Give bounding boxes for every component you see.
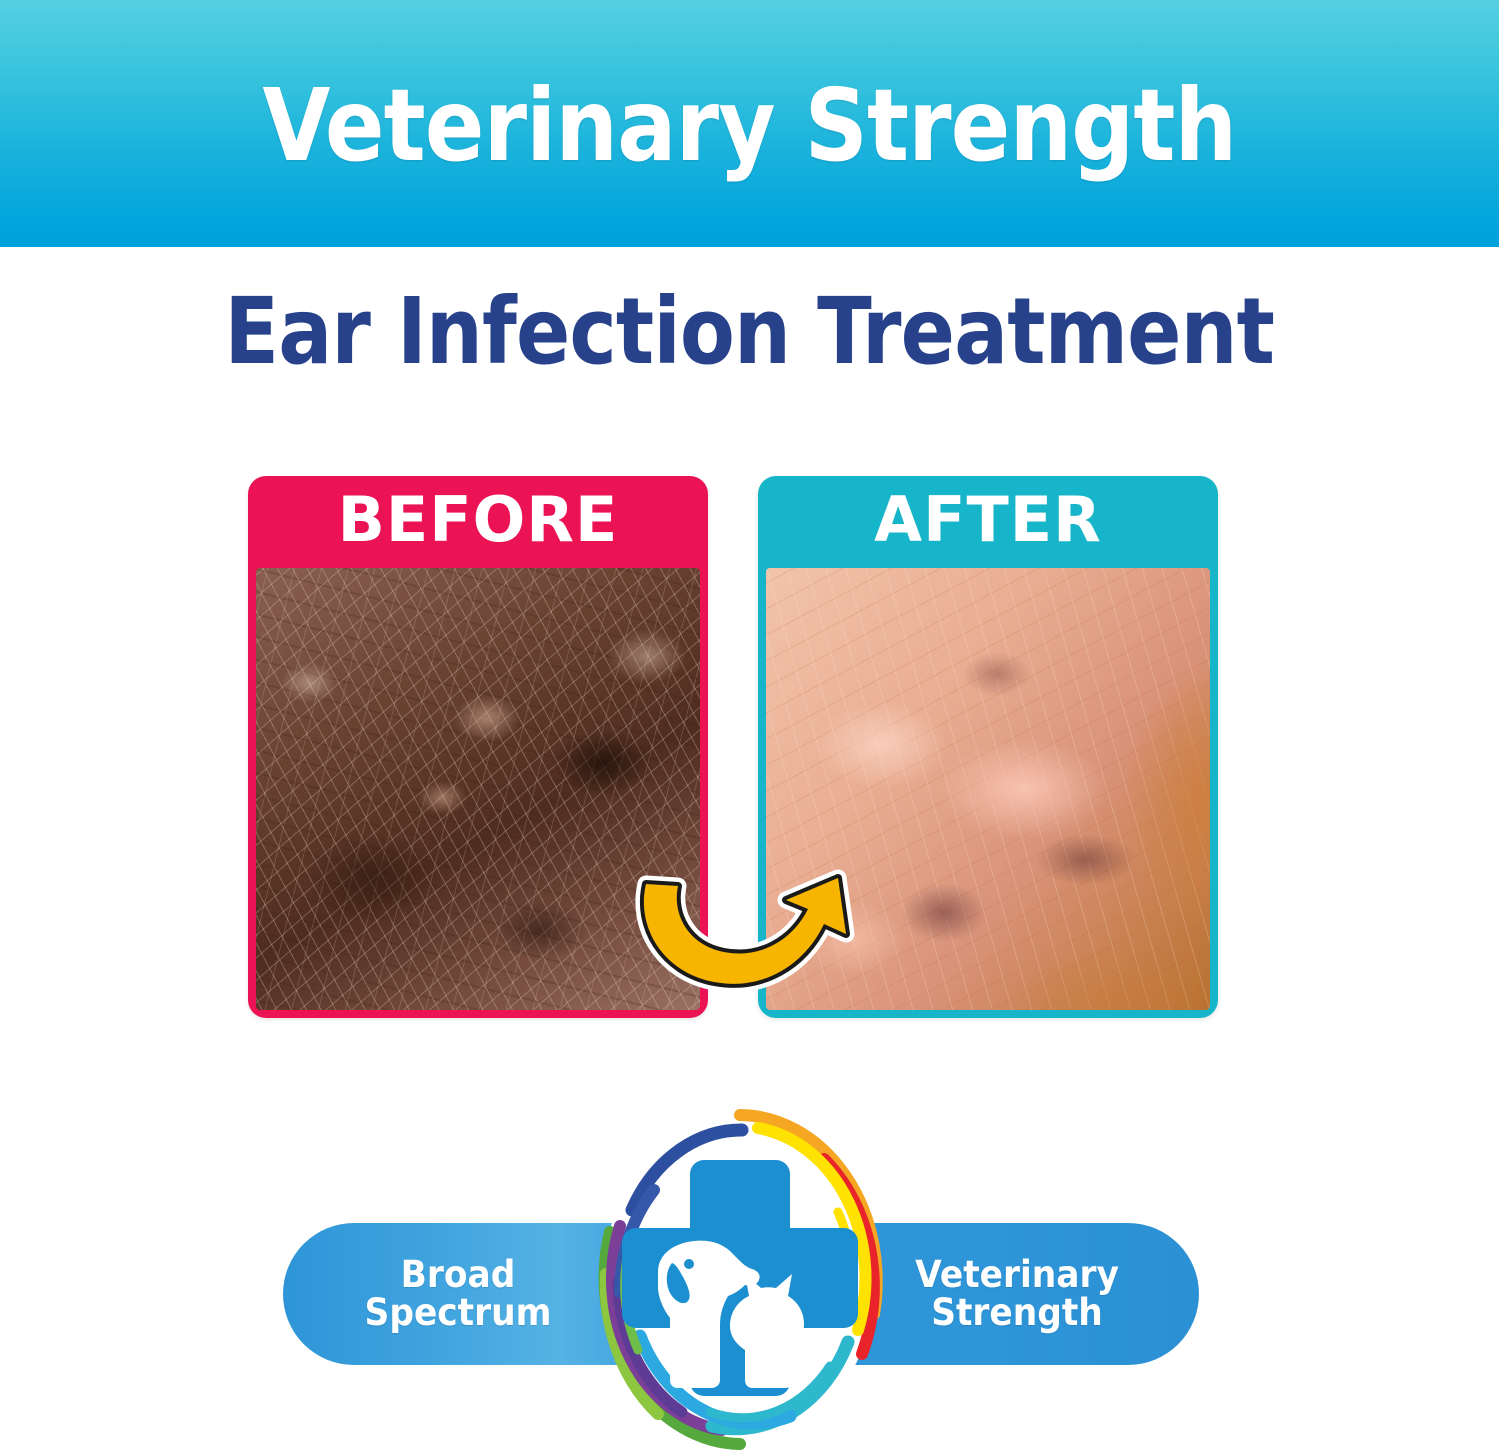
before-photo bbox=[256, 568, 700, 1010]
before-card: BEFORE bbox=[248, 476, 708, 1018]
header-banner: Veterinary Strength bbox=[0, 0, 1499, 247]
veterinary-strength-line-2: Strength bbox=[900, 1294, 1134, 1332]
before-label: BEFORE bbox=[248, 476, 708, 568]
after-photo bbox=[766, 568, 1210, 1010]
after-label: AFTER bbox=[758, 476, 1218, 568]
broad-spectrum-line-1: Broad bbox=[351, 1256, 565, 1294]
after-card: AFTER bbox=[758, 476, 1218, 1018]
subtitle-row: Ear Infection Treatment bbox=[0, 272, 1499, 392]
before-after-comparison: BEFORE AFTER bbox=[248, 476, 1218, 1018]
header-title: Veterinary Strength bbox=[263, 76, 1237, 176]
vet-cross-dog-cat-logo bbox=[562, 1104, 918, 1452]
veterinary-strength-label: Veterinary Strength bbox=[900, 1256, 1134, 1333]
product-marketing-image: Veterinary Strength Ear Infection Treatm… bbox=[0, 0, 1499, 1452]
broad-spectrum-line-2: Spectrum bbox=[351, 1294, 565, 1332]
veterinary-strength-line-1: Veterinary bbox=[900, 1256, 1134, 1294]
broad-spectrum-label: Broad Spectrum bbox=[351, 1256, 565, 1333]
badge-bar: Broad Spectrum Veterinary Strength bbox=[0, 1104, 1499, 1452]
page-title: Ear Infection Treatment bbox=[225, 286, 1275, 378]
